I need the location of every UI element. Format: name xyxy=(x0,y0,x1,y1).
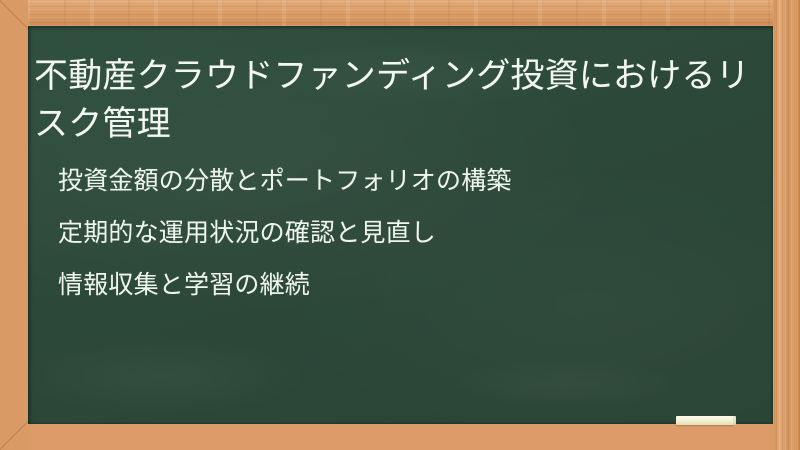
frame-rail-left xyxy=(0,0,28,450)
frame-rail-top xyxy=(0,0,800,26)
chalk-stick-tip xyxy=(733,416,736,425)
bullet-list: 投資金額の分散とポートフォリオの構築 定期的な運用状況の確認と見直し 情報収集と… xyxy=(58,154,758,310)
slide-title: 不動産クラウドファンディング投資におけるリスク管理 xyxy=(34,52,762,149)
chalkboard-slide: 不動産クラウドファンディング投資におけるリスク管理 投資金額の分散とポートフォリ… xyxy=(0,0,800,450)
frame-rail-bottom-ledge xyxy=(0,424,800,450)
frame-rail-right xyxy=(773,0,800,450)
list-item: 情報収集と学習の継続 xyxy=(58,258,758,310)
bullet-text: 情報収集と学習の継続 xyxy=(58,272,310,297)
bullet-text: 投資金額の分散とポートフォリオの構築 xyxy=(58,168,512,193)
chalk-stick-icon xyxy=(676,416,734,425)
bullet-text: 定期的な運用状況の確認と見直し xyxy=(58,220,436,245)
list-item: 定期的な運用状況の確認と見直し xyxy=(58,206,758,258)
chalkboard-surface: 不動産クラウドファンディング投資におけるリスク管理 投資金額の分散とポートフォリ… xyxy=(28,26,773,424)
list-item: 投資金額の分散とポートフォリオの構築 xyxy=(58,154,758,206)
